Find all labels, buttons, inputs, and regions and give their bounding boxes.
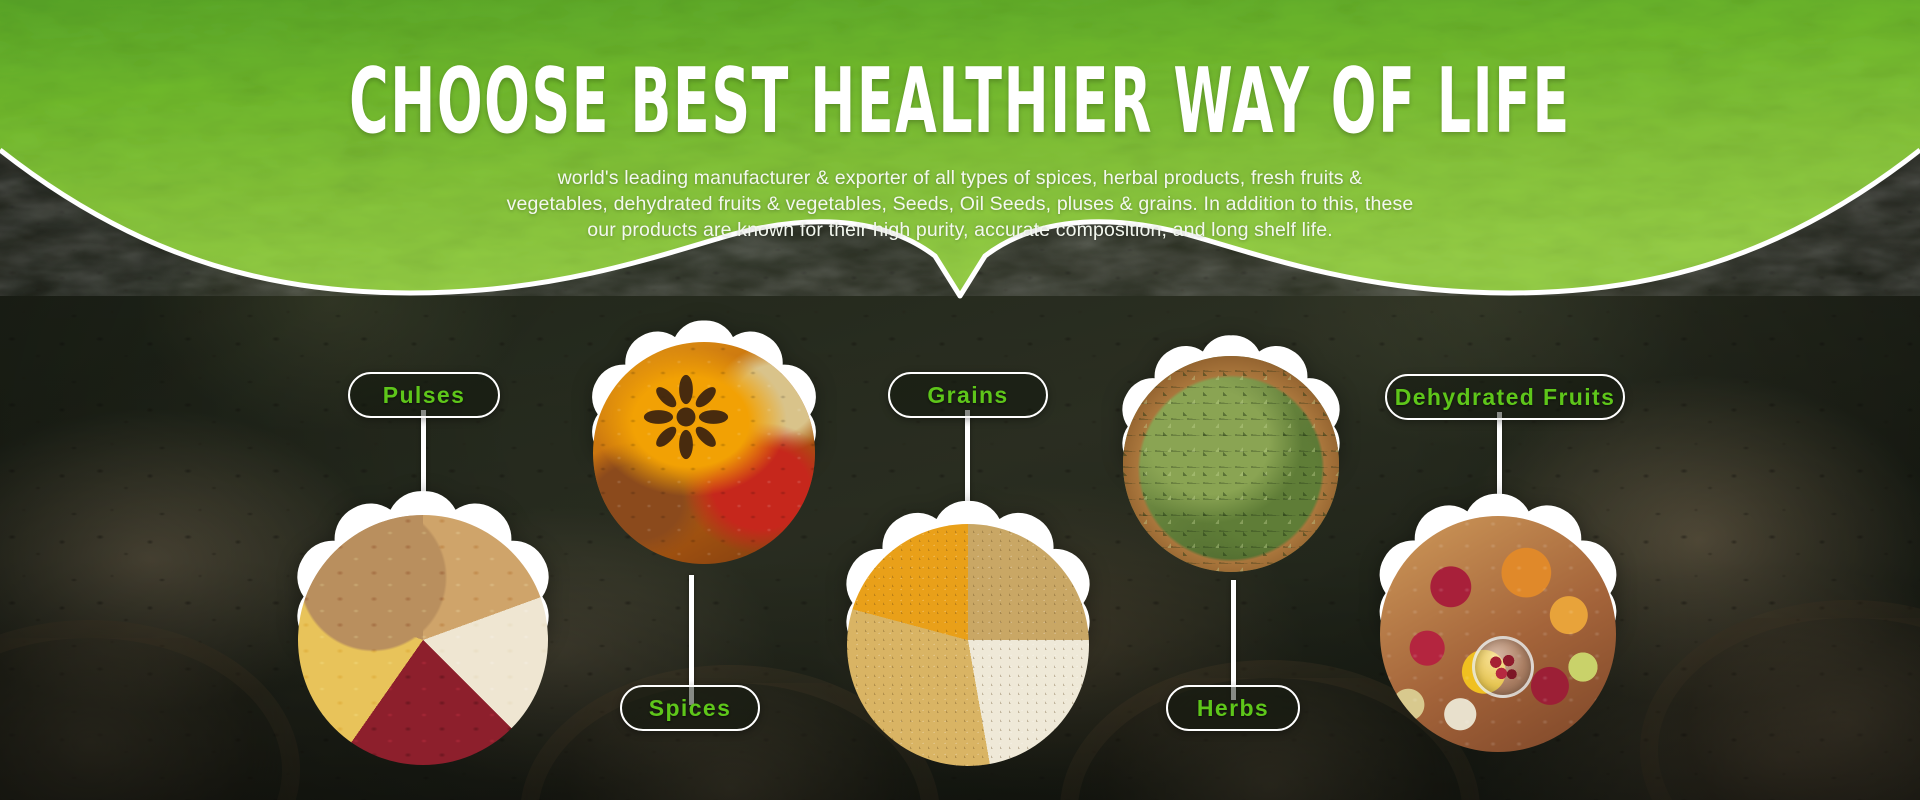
- glass-jar-icon: [1472, 636, 1534, 698]
- category-node-grains[interactable]: [818, 495, 1118, 795]
- category-node-herbs[interactable]: [1097, 330, 1365, 598]
- star-anise-icon: [643, 374, 729, 460]
- category-image-grains: [847, 524, 1089, 766]
- scallop-frame-spices: [566, 315, 842, 591]
- category-image-pulses: [298, 515, 548, 765]
- category-label-dehydrated-fruits[interactable]: Dehydrated Fruits: [1385, 374, 1625, 420]
- category-label-pulses-text: Pulses: [383, 382, 466, 409]
- category-node-spices[interactable]: [566, 315, 842, 591]
- category-image-dehydrated-fruits: [1380, 516, 1616, 752]
- category-label-grains-text: Grains: [927, 382, 1008, 409]
- scallop-frame-dehydrated-fruits: [1352, 488, 1644, 780]
- scallop-frame-grains: [818, 495, 1118, 795]
- connector-stem-herbs: [1231, 580, 1236, 700]
- category-label-dehydrated-fruits-text: Dehydrated Fruits: [1395, 384, 1616, 411]
- category-label-herbs[interactable]: Herbs: [1166, 685, 1300, 731]
- category-image-spices: [593, 342, 815, 564]
- category-label-pulses[interactable]: Pulses: [348, 372, 500, 418]
- category-label-spices[interactable]: Spices: [620, 685, 760, 731]
- category-label-herbs-text: Herbs: [1197, 695, 1269, 722]
- green-banner-shape: [0, 0, 1920, 330]
- category-image-herbs: [1123, 356, 1339, 572]
- category-node-dehydrated-fruits[interactable]: [1352, 488, 1644, 780]
- scallop-frame-herbs: [1097, 330, 1365, 598]
- banner-blob-fill: [0, 0, 1920, 296]
- hero-banner: CHOOSE BEST HEALTHIER WAY OF LIFE world'…: [0, 0, 1920, 800]
- category-label-grains[interactable]: Grains: [888, 372, 1048, 418]
- scallop-frame-pulses: [268, 485, 578, 795]
- category-node-pulses[interactable]: [268, 485, 578, 795]
- category-label-spices-text: Spices: [649, 695, 732, 722]
